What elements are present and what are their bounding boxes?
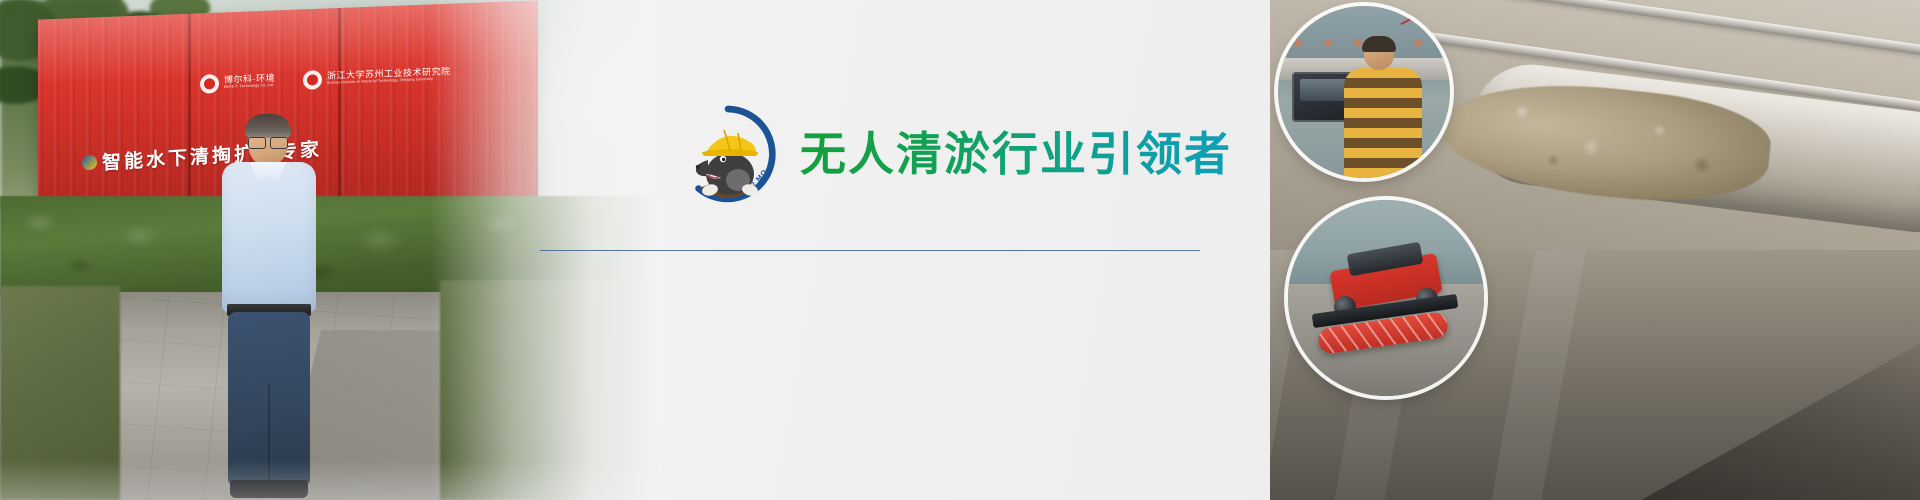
- container-logo-en: BEKE P. Technology Co.,Ltd.: [224, 84, 275, 90]
- man-pants: [228, 312, 310, 484]
- operator-hair: [1362, 36, 1396, 52]
- zju-mark-icon: [303, 70, 322, 90]
- operator-circle-photo: [1278, 6, 1450, 178]
- orange-floats: [1284, 36, 1434, 50]
- right-photo-group: [1270, 0, 1920, 500]
- mud-mole-logo: MUD MOLE: [678, 104, 778, 204]
- slogan-badge-icon: [82, 155, 97, 171]
- brand-row: MUD MOLE: [678, 104, 1232, 204]
- center-block: MUD MOLE: [660, 0, 1270, 500]
- man-figure: [214, 118, 324, 500]
- page-title: 无人清淤行业引领者: [800, 130, 1232, 178]
- container-logo-bokeke: 博尔科·环境 BEKE P. Technology Co.,Ltd.: [200, 71, 275, 93]
- operator-body: [1344, 68, 1422, 178]
- hero-banner: 博尔科·环境 BEKE P. Technology Co.,Ltd. 浙江大学苏…: [0, 0, 1920, 500]
- man-hair: [245, 114, 291, 138]
- man-shirt: [222, 162, 316, 312]
- divider-line: [540, 250, 1200, 251]
- dredging-robot-circle-photo: [1288, 200, 1484, 396]
- bokeke-mark-icon: [200, 74, 219, 94]
- handrail: [1382, 0, 1920, 57]
- container-logo-zju: 浙江大学苏州工业技术研究院 Suzhou Institute of Indust…: [303, 65, 451, 90]
- glasses-icon: [247, 137, 289, 147]
